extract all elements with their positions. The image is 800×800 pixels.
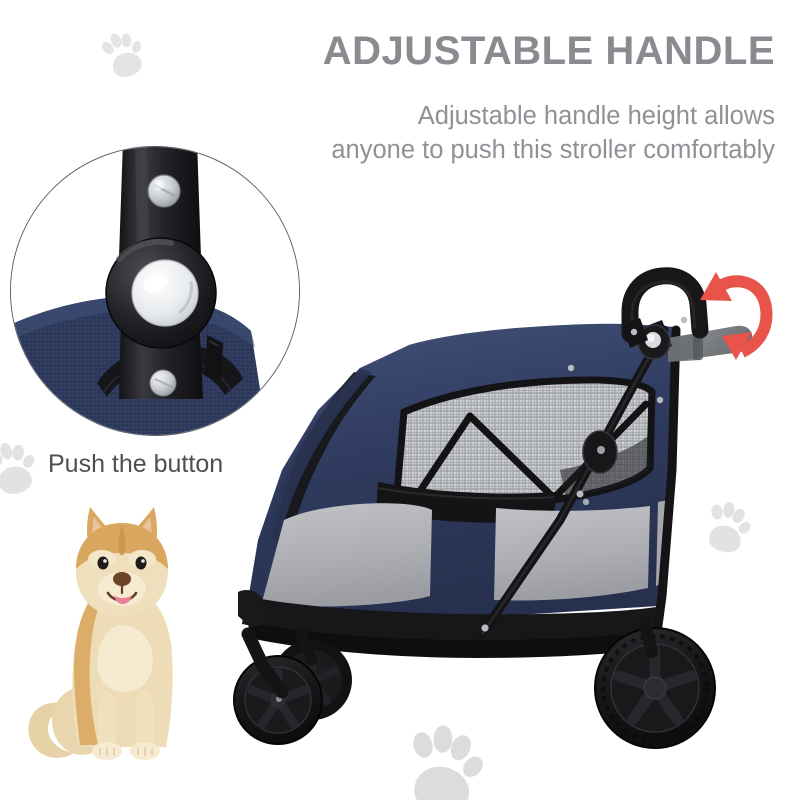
page-subtitle-line-1: Adjustable handle height allows [215, 100, 775, 134]
rear-wheel [595, 628, 715, 748]
detail-callout-circle [10, 146, 300, 436]
page-title: ADJUSTABLE HANDLE [250, 30, 775, 72]
front-wheels [234, 640, 352, 744]
infographic-canvas: ADJUSTABLE HANDLE Adjustable handle heig… [0, 0, 800, 800]
paw-print-mid-left [0, 436, 43, 501]
paw-print-bottom-center [394, 716, 492, 800]
page-subtitle: Adjustable handle height allows anyone t… [215, 100, 775, 167]
paw-print-right [696, 495, 758, 560]
shiba-inu-illustration [20, 495, 220, 770]
page-subtitle-line-2: anyone to push this stroller comfortably [215, 134, 775, 168]
paw-print-top-left [93, 24, 152, 86]
handle-alternate-position [668, 326, 752, 362]
callout-label: Push the button [48, 450, 223, 479]
handle-rotation-arrow [700, 272, 766, 360]
